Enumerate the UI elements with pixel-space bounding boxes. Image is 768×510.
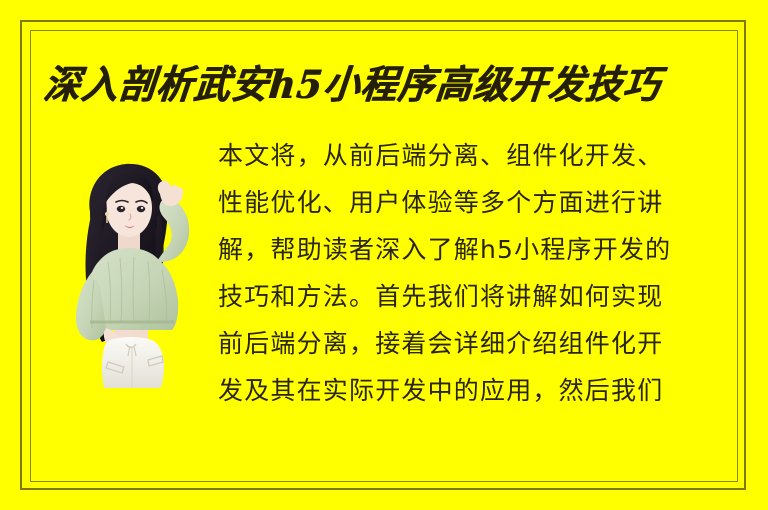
body-line: 前后端分离，接着会详细介绍组件化开 [218, 320, 738, 367]
body-line: 技巧和方法。首先我们将讲解如何实现 [218, 273, 738, 320]
body-line: 发及其在实际开发中的应用，然后我们 [218, 367, 738, 414]
body-line: 解，帮助读者深入了解h5小程序开发的 [218, 226, 738, 273]
body-line: 性能优化、用户体验等多个方面进行讲 [218, 179, 738, 226]
young-woman-icon [56, 150, 204, 388]
illustration-young-woman [56, 150, 204, 388]
page-title: 深入剖析武安h5小程序高级开发技巧 [40, 54, 727, 121]
body-text-column: 本文将，从前后端分离、组件化开发、 性能优化、用户体验等多个方面进行讲 解，帮助… [218, 132, 738, 422]
poster-canvas: 深入剖析武安h5小程序高级开发技巧 [0, 0, 768, 510]
body-line: 本文将，从前后端分离、组件化开发、 [218, 132, 738, 179]
